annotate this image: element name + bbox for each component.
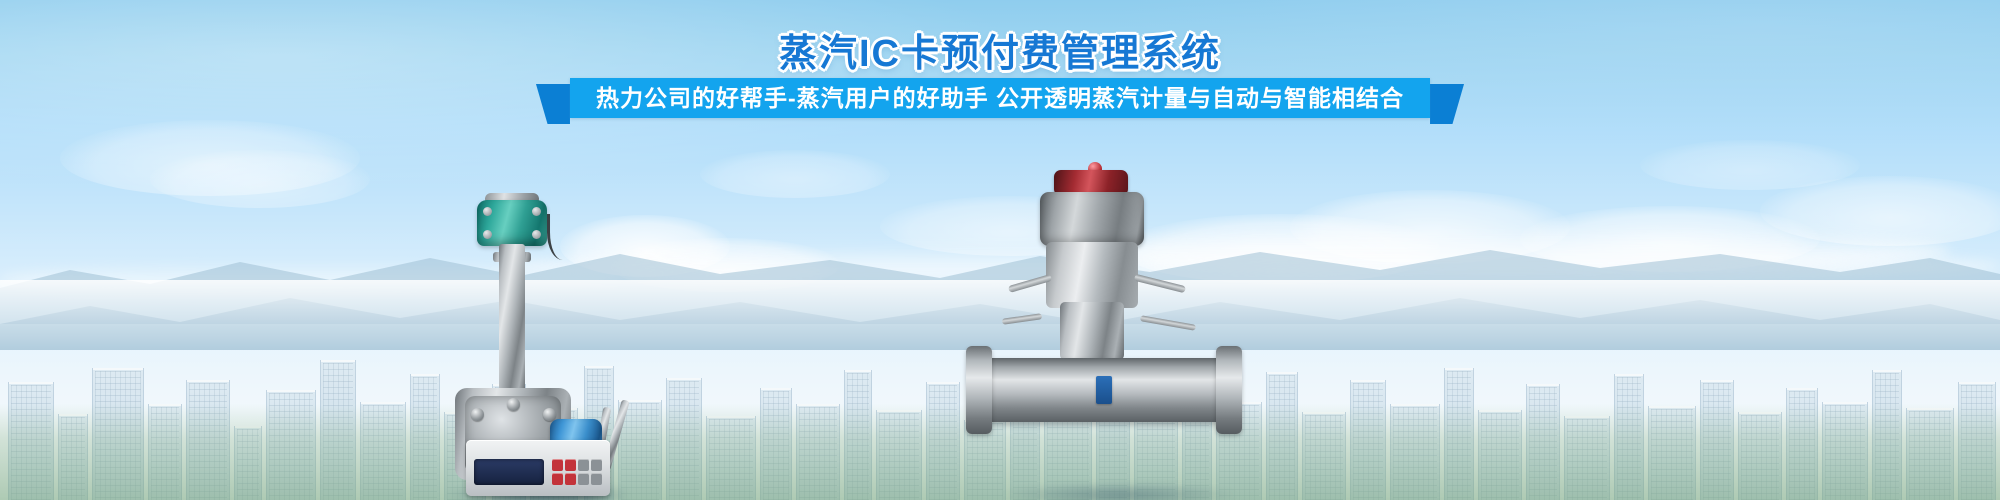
product-ic-card-controller bbox=[466, 430, 616, 500]
product-pneumatic-actuator-valve bbox=[1000, 170, 1260, 500]
actuator-rod-lower-right bbox=[1140, 315, 1196, 331]
actuator-rod-right bbox=[1134, 274, 1186, 293]
meter-transmitter-head bbox=[477, 200, 547, 246]
ribbon-tail-left-icon bbox=[536, 84, 570, 124]
valve-flange-left bbox=[966, 346, 992, 434]
ribbon-tail-right-icon bbox=[1430, 84, 1464, 124]
meter-stem bbox=[499, 244, 525, 394]
meter-cable bbox=[547, 214, 573, 260]
subtitle-ribbon: 热力公司的好帮手-蒸汽用户的好助手 公开透明蒸汽计量与自动与智能相结合 bbox=[0, 76, 2000, 120]
actuator-body bbox=[1040, 192, 1144, 246]
valve-nameplate bbox=[1096, 376, 1112, 404]
actuator-yoke bbox=[1060, 302, 1124, 360]
controller-keypad bbox=[552, 459, 602, 485]
controller-body bbox=[466, 440, 610, 496]
valve-flange-right bbox=[1216, 346, 1242, 434]
actuator-rod-lower-left bbox=[1002, 313, 1042, 325]
subtitle-text: 热力公司的好帮手-蒸汽用户的好助手 公开透明蒸汽计量与自动与智能相结合 bbox=[596, 78, 1404, 118]
hero-banner: 蒸汽IC卡预付费管理系统 热力公司的好帮手-蒸汽用户的好助手 公开透明蒸汽计量与… bbox=[0, 0, 2000, 500]
ribbon-body: 热力公司的好帮手-蒸汽用户的好助手 公开透明蒸汽计量与自动与智能相结合 bbox=[570, 78, 1430, 118]
actuator-housing bbox=[1046, 242, 1138, 308]
page-title: 蒸汽IC卡预付费管理系统 bbox=[0, 22, 2000, 77]
controller-lcd-screen bbox=[474, 459, 544, 485]
